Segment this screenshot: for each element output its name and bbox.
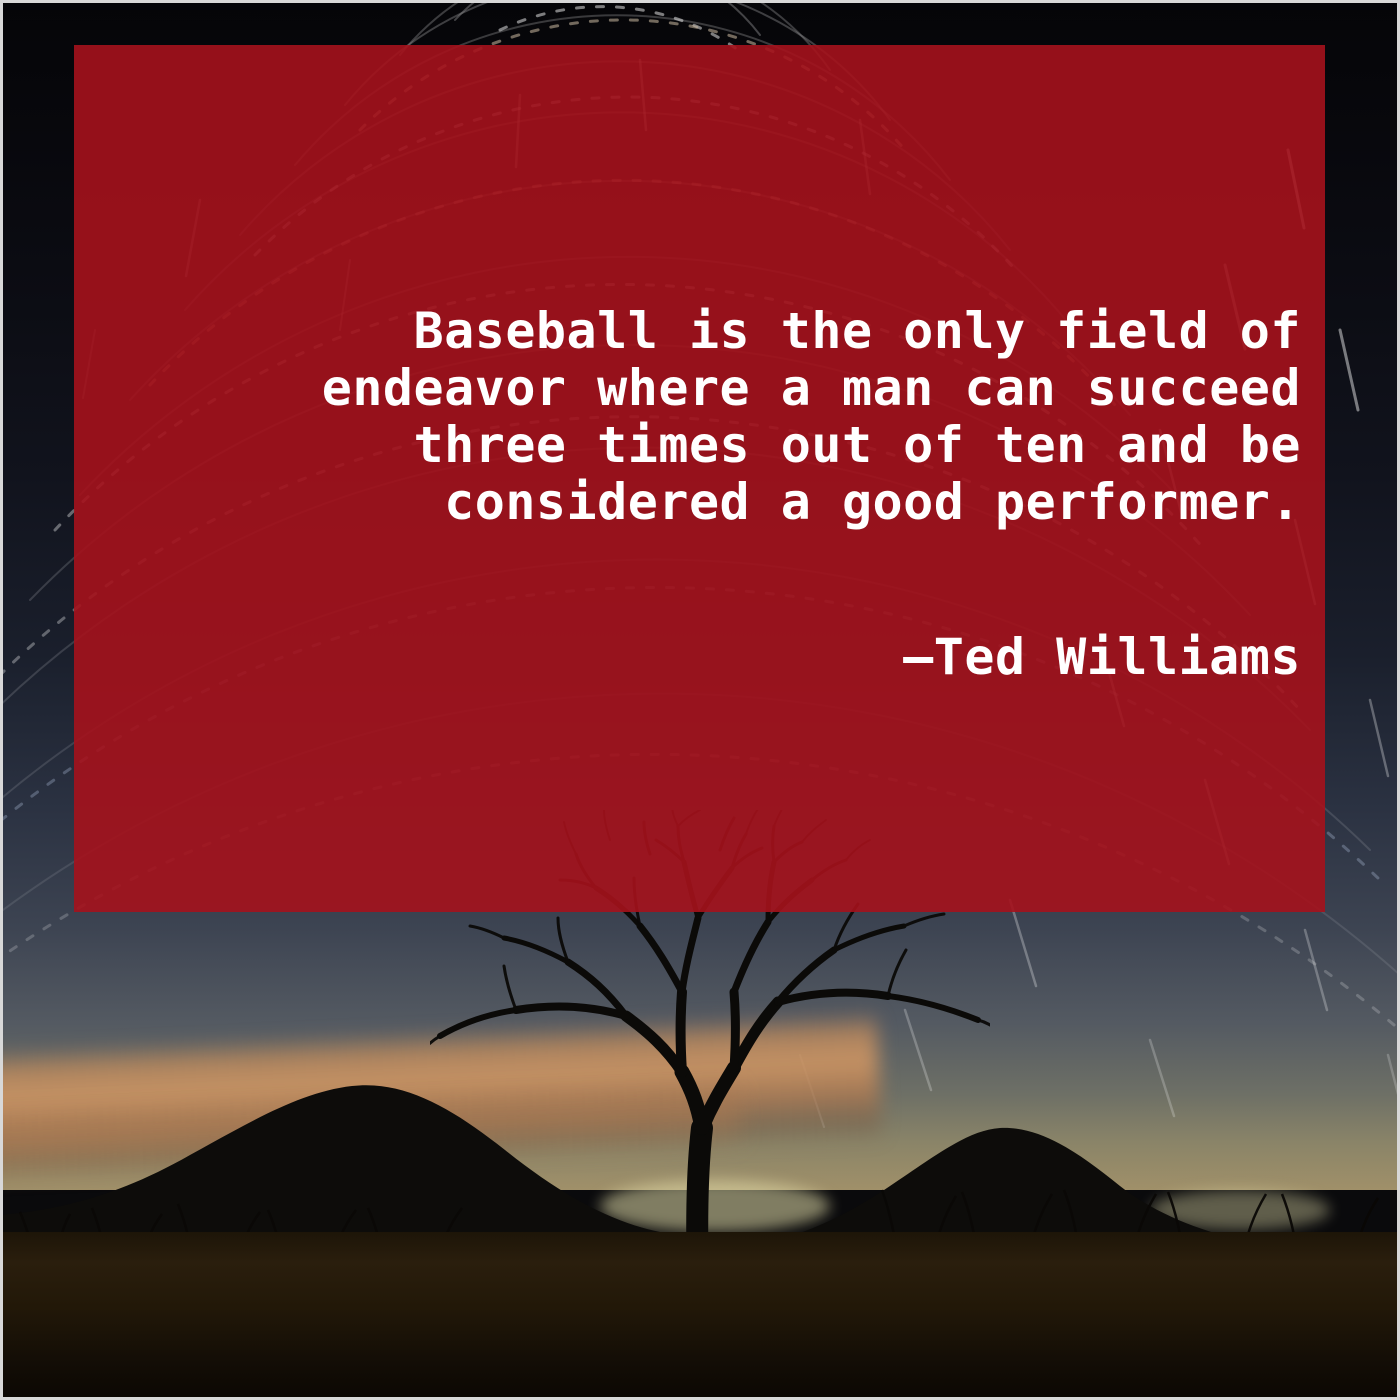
quote-text: Baseball is the only field of endeavor w…	[74, 303, 1301, 531]
quote-card-canvas: Baseball is the only field of endeavor w…	[0, 0, 1400, 1400]
red-quote-overlay: Baseball is the only field of endeavor w…	[74, 45, 1325, 912]
foreground-ground	[0, 1232, 1400, 1400]
quote-attribution: –Ted Williams	[74, 629, 1301, 686]
